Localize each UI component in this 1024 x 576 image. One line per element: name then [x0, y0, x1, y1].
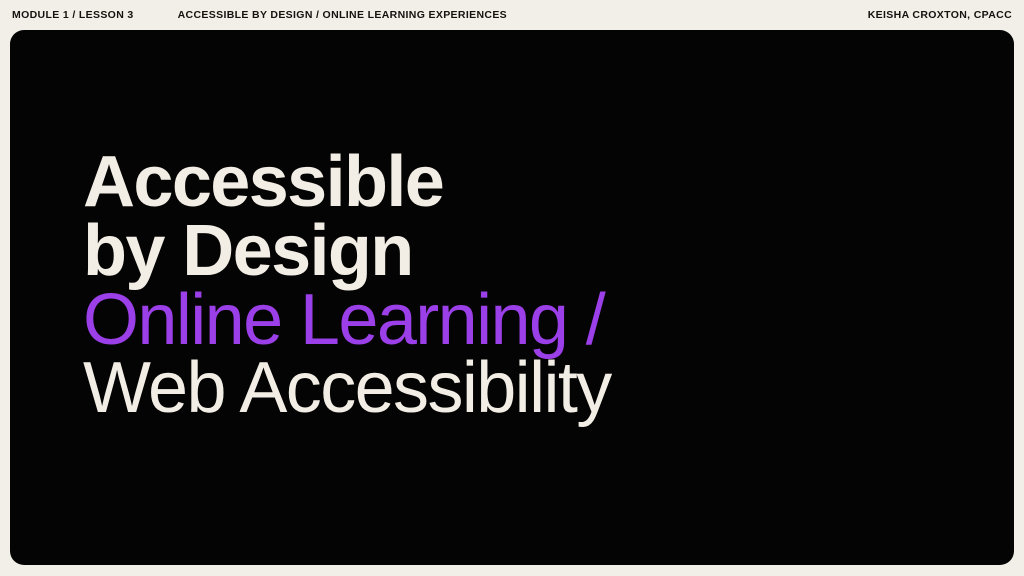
slide-meta-bar: MODULE 1 / LESSON 3 ACCESSIBLE BY DESIGN…	[0, 0, 1024, 30]
slide-stage: Accessible by Design Online Learning / W…	[10, 30, 1014, 565]
module-lesson-label: MODULE 1 / LESSON 3	[12, 10, 134, 21]
presentation-slide: MODULE 1 / LESSON 3 ACCESSIBLE BY DESIGN…	[0, 0, 1024, 576]
presenter-credit-label: KEISHA CROXTON, CPACC	[868, 10, 1012, 21]
slide-title-block: Accessible by Design Online Learning / W…	[83, 148, 963, 423]
course-title-label: ACCESSIBLE BY DESIGN / ONLINE LEARNING E…	[178, 10, 507, 21]
title-line-1: Accessible	[83, 148, 963, 217]
title-line-4: Web Accessibility	[83, 354, 963, 423]
title-line-2: by Design	[83, 217, 963, 286]
title-line-3-accent: Online Learning /	[83, 286, 963, 355]
